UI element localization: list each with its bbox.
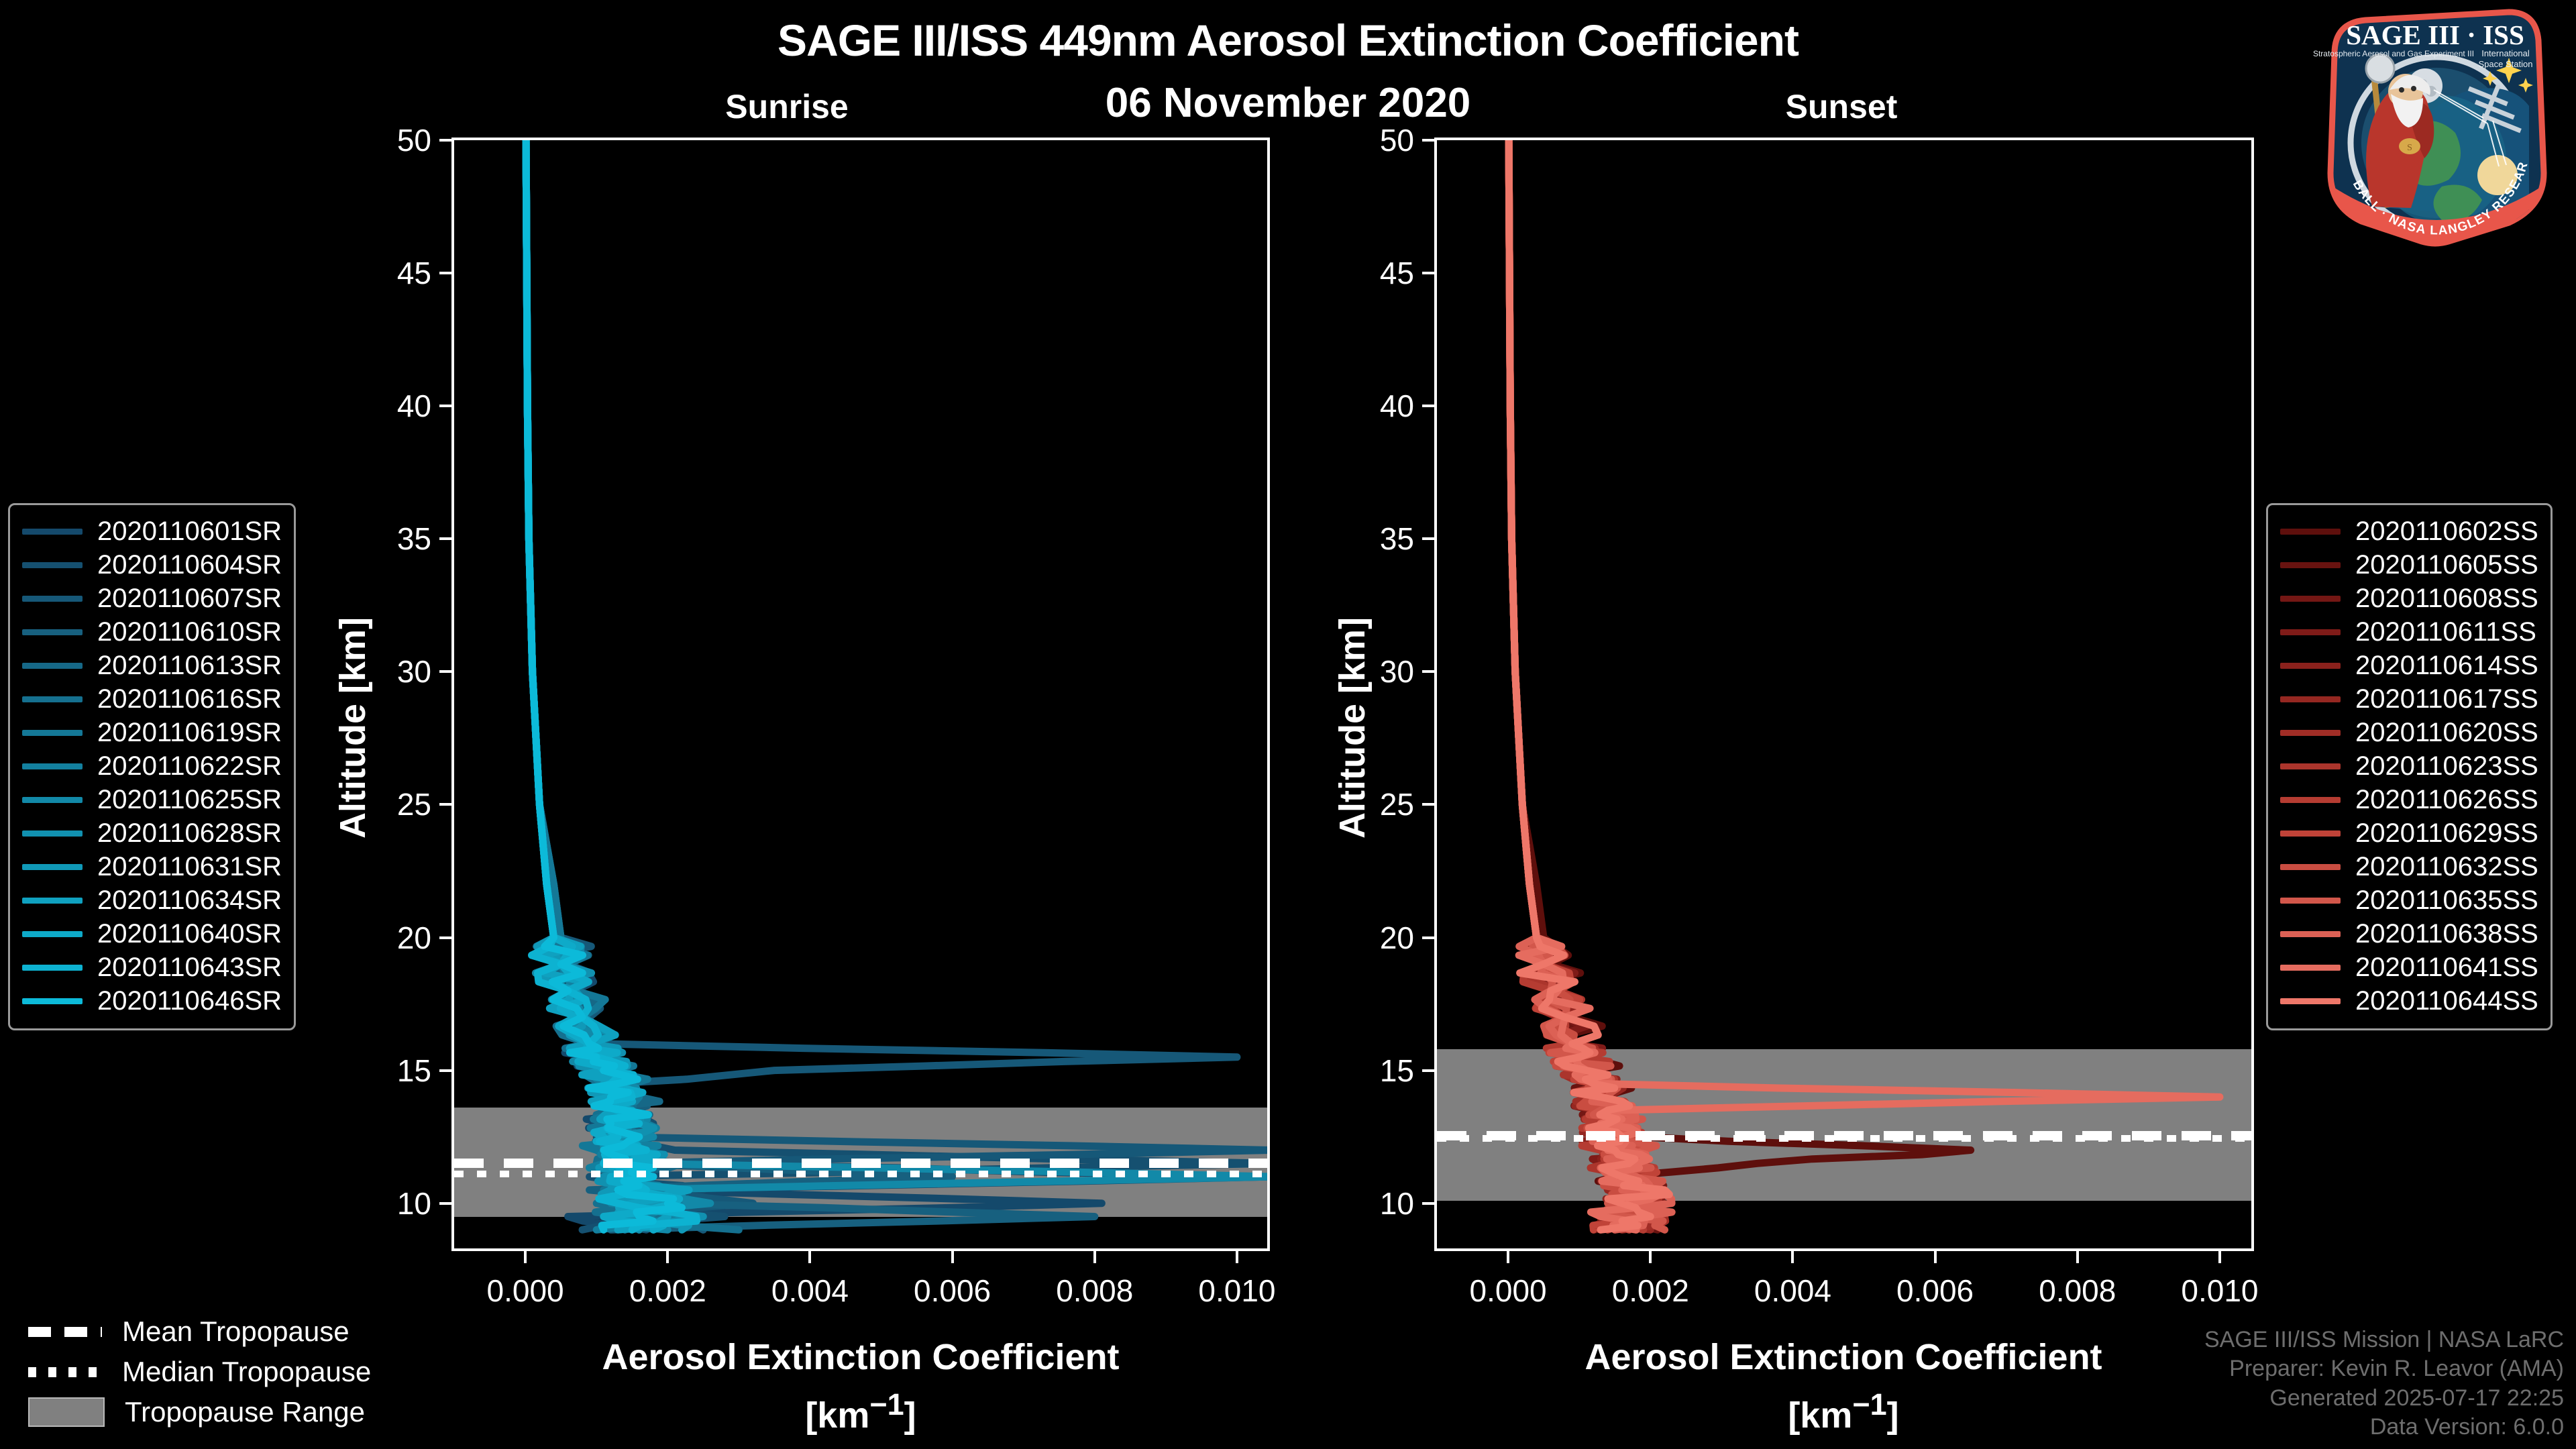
legend-item-label: 2020110643SR — [97, 953, 282, 983]
median-tropopause-line — [454, 1171, 1267, 1177]
legend-item[interactable]: 2020110625SR — [22, 783, 282, 816]
legend-color-swatch-icon — [2280, 830, 2341, 837]
x-axis-tick — [951, 1248, 954, 1263]
legend-color-swatch-icon — [2280, 663, 2341, 669]
legend-item-label: 2020110613SR — [97, 651, 282, 681]
svg-text:S: S — [2407, 143, 2412, 153]
legend-item[interactable]: 2020110640SR — [22, 917, 282, 951]
legend-item[interactable]: 2020110641SS — [2280, 951, 2538, 984]
y-axis-tick — [1422, 1202, 1437, 1205]
x-axis-tick-label: 0.000 — [1470, 1273, 1547, 1309]
x-axis-tick-label: 0.008 — [1056, 1273, 1133, 1309]
legend-color-swatch-icon — [2280, 797, 2341, 803]
sunrise-panel-title: Sunrise — [653, 87, 921, 126]
credits-line-version: Data Version: 6.0.0 — [2204, 1413, 2564, 1442]
tropopause-range-label: Tropopause Range — [125, 1396, 365, 1428]
y-axis-tick-label: 50 — [297, 122, 431, 158]
legend-color-swatch-icon — [22, 931, 83, 937]
legend-item-label: 2020110638SS — [2355, 919, 2538, 949]
legend-item[interactable]: 2020110614SS — [2280, 649, 2538, 682]
sunset-x-axis-title: Aerosol Extinction Coefficient [km−1] — [1434, 1332, 2253, 1441]
y-axis-tick-label: 50 — [1280, 122, 1414, 158]
x-axis-title-line1: Aerosol Extinction Coefficient — [1434, 1332, 2253, 1383]
y-axis-tick — [1422, 139, 1437, 142]
legend-item-label: 2020110617SS — [2355, 684, 2538, 714]
y-axis-tick — [439, 537, 454, 540]
x-axis-tick — [808, 1248, 811, 1263]
legend-item-label: 2020110607SR — [97, 584, 282, 614]
legend-item-label: 2020110626SS — [2355, 785, 2538, 815]
legend-item[interactable]: 2020110638SS — [2280, 917, 2538, 951]
x-axis-tick-label: 0.006 — [1896, 1273, 1974, 1309]
legend-item[interactable]: 2020110629SS — [2280, 816, 2538, 850]
legend-item-label: 2020110628SR — [97, 818, 282, 849]
legend-item[interactable]: 2020110631SR — [22, 850, 282, 883]
legend-color-swatch-icon — [2280, 696, 2341, 702]
sage-iii-iss-mission-patch-logo: S BALL · NASA LANGLEY RESEARCH CENTER · … — [2308, 5, 2563, 247]
key-row-mean: Mean Tropopause — [13, 1311, 371, 1352]
legend-color-swatch-icon — [2280, 730, 2341, 736]
x-axis-tick — [1236, 1248, 1238, 1263]
x-axis-tick-label: 0.002 — [1612, 1273, 1689, 1309]
credits-block: SAGE III/ISS Mission | NASA LaRC Prepare… — [2204, 1326, 2564, 1442]
legend-color-swatch-icon — [22, 965, 83, 971]
y-axis-tick — [439, 936, 454, 939]
key-row-range: Tropopause Range — [13, 1392, 371, 1432]
legend-item[interactable]: 2020110622SR — [22, 749, 282, 783]
x-axis-tick — [666, 1248, 669, 1263]
x-axis-tick-label: 0.010 — [2181, 1273, 2258, 1309]
legend-color-swatch-icon — [22, 629, 83, 635]
legend-item-label: 2020110610SR — [97, 617, 282, 647]
legend-item[interactable]: 2020110619SR — [22, 716, 282, 749]
legend-item[interactable]: 2020110646SR — [22, 984, 282, 1018]
legend-item[interactable]: 2020110605SS — [2280, 548, 2538, 582]
y-axis-tick-label: 40 — [297, 388, 431, 424]
legend-item-label: 2020110604SR — [97, 550, 282, 580]
legend-color-swatch-icon — [22, 830, 83, 837]
y-axis-tick-label: 10 — [297, 1185, 431, 1222]
y-axis-tick — [439, 272, 454, 274]
legend-item[interactable]: 2020110610SR — [22, 615, 282, 649]
x-axis-tick — [2218, 1248, 2221, 1263]
legend-item-label: 2020110620SS — [2355, 718, 2538, 748]
y-axis-tick — [1422, 1069, 1437, 1072]
sunset-plot-frame[interactable]: 1015202530354045500.0000.0020.0040.0060.… — [1434, 138, 2254, 1251]
x-axis-title-line2: [km−1] — [1434, 1383, 2253, 1442]
legend-item-label: 2020110632SS — [2355, 852, 2538, 882]
legend-color-swatch-icon — [2280, 562, 2341, 568]
x-axis-tick-label: 0.004 — [771, 1273, 849, 1309]
x-axis-tick-label: 0.008 — [2039, 1273, 2116, 1309]
y-axis-tick — [439, 1202, 454, 1205]
legend-item[interactable]: 2020110632SS — [2280, 850, 2538, 883]
legend-item[interactable]: 2020110607SR — [22, 582, 282, 615]
profile-line — [526, 140, 682, 1230]
legend-item[interactable]: 2020110617SS — [2280, 682, 2538, 716]
sunrise-plot-area — [454, 140, 1267, 1248]
legend-item[interactable]: 2020110602SS — [2280, 515, 2538, 548]
legend-color-swatch-icon — [22, 596, 83, 602]
y-axis-tick — [1422, 670, 1437, 673]
legend-item-label: 2020110602SS — [2355, 517, 2538, 547]
tropopause-range-swatch-icon — [28, 1397, 105, 1427]
profile-curves — [1437, 140, 2251, 1248]
key-row-median: Median Tropopause — [13, 1352, 371, 1392]
logo-subtitle-left: Stratospheric Aerosol and Gas Experiment… — [2313, 49, 2474, 58]
sunrise-y-axis-title: Altitude [km] — [332, 617, 374, 839]
legend-item[interactable]: 2020110604SR — [22, 548, 282, 582]
legend-color-swatch-icon — [22, 529, 83, 535]
legend-item-label: 2020110605SS — [2355, 550, 2538, 580]
median-tropopause-line — [1437, 1135, 2251, 1142]
legend-item[interactable]: 2020110616SR — [22, 682, 282, 716]
x-axis-title-line1: Aerosol Extinction Coefficient — [451, 1332, 1270, 1383]
x-axis-tick-label: 0.010 — [1198, 1273, 1275, 1309]
legend-item-label: 2020110601SR — [97, 517, 282, 547]
legend-color-swatch-icon — [2280, 931, 2341, 937]
legend-item[interactable]: 2020110613SR — [22, 649, 282, 682]
page-title: SAGE III/ISS 449nm Aerosol Extinction Co… — [0, 15, 2576, 66]
y-axis-tick — [1422, 272, 1437, 274]
legend-color-swatch-icon — [22, 763, 83, 769]
legend-item-label: 2020110635SS — [2355, 885, 2538, 916]
y-axis-tick-label: 45 — [297, 255, 431, 291]
legend-item[interactable]: 2020110623SS — [2280, 749, 2538, 783]
legend-item[interactable]: 2020110601SR — [22, 515, 282, 548]
legend-item-label: 2020110641SS — [2355, 953, 2538, 983]
mean-tropopause-line-icon — [28, 1327, 102, 1337]
x-axis-title-line2: [km−1] — [451, 1383, 1270, 1442]
y-axis-tick — [1422, 405, 1437, 407]
legend-color-swatch-icon — [22, 696, 83, 702]
legend-color-swatch-icon — [22, 864, 83, 870]
y-axis-tick — [439, 1069, 454, 1072]
legend-color-swatch-icon — [2280, 629, 2341, 635]
profile-curves — [454, 140, 1267, 1248]
legend-item-label: 2020110614SS — [2355, 651, 2538, 681]
sunrise-plot-frame[interactable]: 1015202530354045500.0000.0020.0040.0060.… — [451, 138, 1270, 1251]
legend-item-label: 2020110629SS — [2355, 818, 2538, 849]
credits-line-preparer: Preparer: Kevin R. Leavor (AMA) — [2204, 1354, 2564, 1384]
legend-color-swatch-icon — [2280, 596, 2341, 602]
y-axis-tick-label: 10 — [1280, 1185, 1414, 1222]
median-tropopause-label: Median Tropopause — [122, 1356, 371, 1388]
y-axis-tick — [439, 670, 454, 673]
y-axis-tick-label: 45 — [1280, 255, 1414, 291]
date-subtitle: 06 November 2020 — [0, 79, 2576, 127]
logo-title: SAGE III · ISS — [2346, 19, 2524, 50]
legend-item-label: 2020110623SS — [2355, 751, 2538, 782]
x-axis-tick-label: 0.006 — [914, 1273, 991, 1309]
legend-color-swatch-icon — [2280, 864, 2341, 870]
legend-color-swatch-icon — [2280, 529, 2341, 535]
mean-tropopause-label: Mean Tropopause — [122, 1316, 350, 1348]
sunrise-series-legend[interactable]: 2020110601SR2020110604SR2020110607SR2020… — [8, 503, 296, 1030]
legend-color-swatch-icon — [2280, 898, 2341, 904]
legend-color-swatch-icon — [22, 898, 83, 904]
y-axis-tick-label: 15 — [297, 1053, 431, 1089]
legend-item-label: 2020110622SR — [97, 751, 282, 782]
legend-color-swatch-icon — [22, 797, 83, 803]
y-axis-tick-label: 35 — [1280, 521, 1414, 557]
tropopause-key: Mean Tropopause Median Tropopause Tropop… — [13, 1311, 371, 1432]
y-axis-tick-label: 20 — [1280, 920, 1414, 956]
svg-text:Space Station: Space Station — [2479, 59, 2533, 69]
legend-color-swatch-icon — [22, 663, 83, 669]
legend-color-swatch-icon — [2280, 763, 2341, 769]
median-tropopause-line-icon — [28, 1367, 102, 1377]
legend-item-label: 2020110634SR — [97, 885, 282, 916]
x-axis-tick — [1649, 1248, 1652, 1263]
legend-item-label: 2020110631SR — [97, 852, 282, 882]
legend-color-swatch-icon — [2280, 998, 2341, 1004]
credits-line-generated: Generated 2025-07-17 22:25 — [2204, 1384, 2564, 1413]
legend-item[interactable]: 2020110643SR — [22, 951, 282, 984]
legend-item[interactable]: 2020110611SS — [2280, 615, 2538, 649]
legend-item[interactable]: 2020110628SR — [22, 816, 282, 850]
y-axis-tick-label: 20 — [297, 920, 431, 956]
legend-color-swatch-icon — [22, 998, 83, 1004]
legend-color-swatch-icon — [22, 562, 83, 568]
legend-item[interactable]: 2020110608SS — [2280, 582, 2538, 615]
credits-line-mission: SAGE III/ISS Mission | NASA LaRC — [2204, 1326, 2564, 1355]
x-axis-tick-label: 0.000 — [487, 1273, 564, 1309]
y-axis-tick — [1422, 803, 1437, 806]
y-axis-tick — [439, 405, 454, 407]
x-axis-tick-label: 0.002 — [629, 1273, 706, 1309]
y-axis-tick — [1422, 537, 1437, 540]
legend-color-swatch-icon — [2280, 965, 2341, 971]
legend-item-label: 2020110625SR — [97, 785, 282, 815]
legend-item-label: 2020110646SR — [97, 986, 282, 1016]
x-axis-tick — [2076, 1248, 2079, 1263]
legend-item[interactable]: 2020110634SR — [22, 883, 282, 917]
y-axis-tick-label: 35 — [297, 521, 431, 557]
y-axis-tick — [439, 139, 454, 142]
y-axis-tick — [439, 803, 454, 806]
x-axis-tick — [1934, 1248, 1937, 1263]
legend-item-label: 2020110619SR — [97, 718, 282, 748]
mean-tropopause-line — [454, 1159, 1267, 1168]
y-axis-tick-label: 15 — [1280, 1053, 1414, 1089]
legend-item[interactable]: 2020110635SS — [2280, 883, 2538, 917]
legend-item-label: 2020110640SR — [97, 919, 282, 949]
legend-item-label: 2020110616SR — [97, 684, 282, 714]
x-axis-tick — [1507, 1248, 1509, 1263]
sunset-series-legend[interactable]: 2020110602SS2020110605SS2020110608SS2020… — [2266, 503, 2553, 1030]
x-axis-tick — [1791, 1248, 1794, 1263]
svg-text:International: International — [2481, 48, 2530, 58]
legend-item[interactable]: 2020110626SS — [2280, 783, 2538, 816]
legend-item[interactable]: 2020110620SS — [2280, 716, 2538, 749]
y-axis-tick — [1422, 936, 1437, 939]
legend-color-swatch-icon — [22, 730, 83, 736]
x-axis-tick-label: 0.004 — [1754, 1273, 1831, 1309]
legend-item-label: 2020110644SS — [2355, 986, 2538, 1016]
legend-item-label: 2020110608SS — [2355, 584, 2538, 614]
legend-item-label: 2020110611SS — [2355, 617, 2536, 647]
y-axis-tick-label: 40 — [1280, 388, 1414, 424]
x-axis-tick — [524, 1248, 527, 1263]
sunset-y-axis-title: Altitude [km] — [1332, 617, 1373, 839]
legend-item[interactable]: 2020110644SS — [2280, 984, 2538, 1018]
sunset-panel-title: Sunset — [1707, 87, 1976, 126]
sunrise-x-axis-title: Aerosol Extinction Coefficient [km−1] — [451, 1332, 1270, 1441]
x-axis-tick — [1093, 1248, 1096, 1263]
sunset-plot-area — [1437, 140, 2251, 1248]
